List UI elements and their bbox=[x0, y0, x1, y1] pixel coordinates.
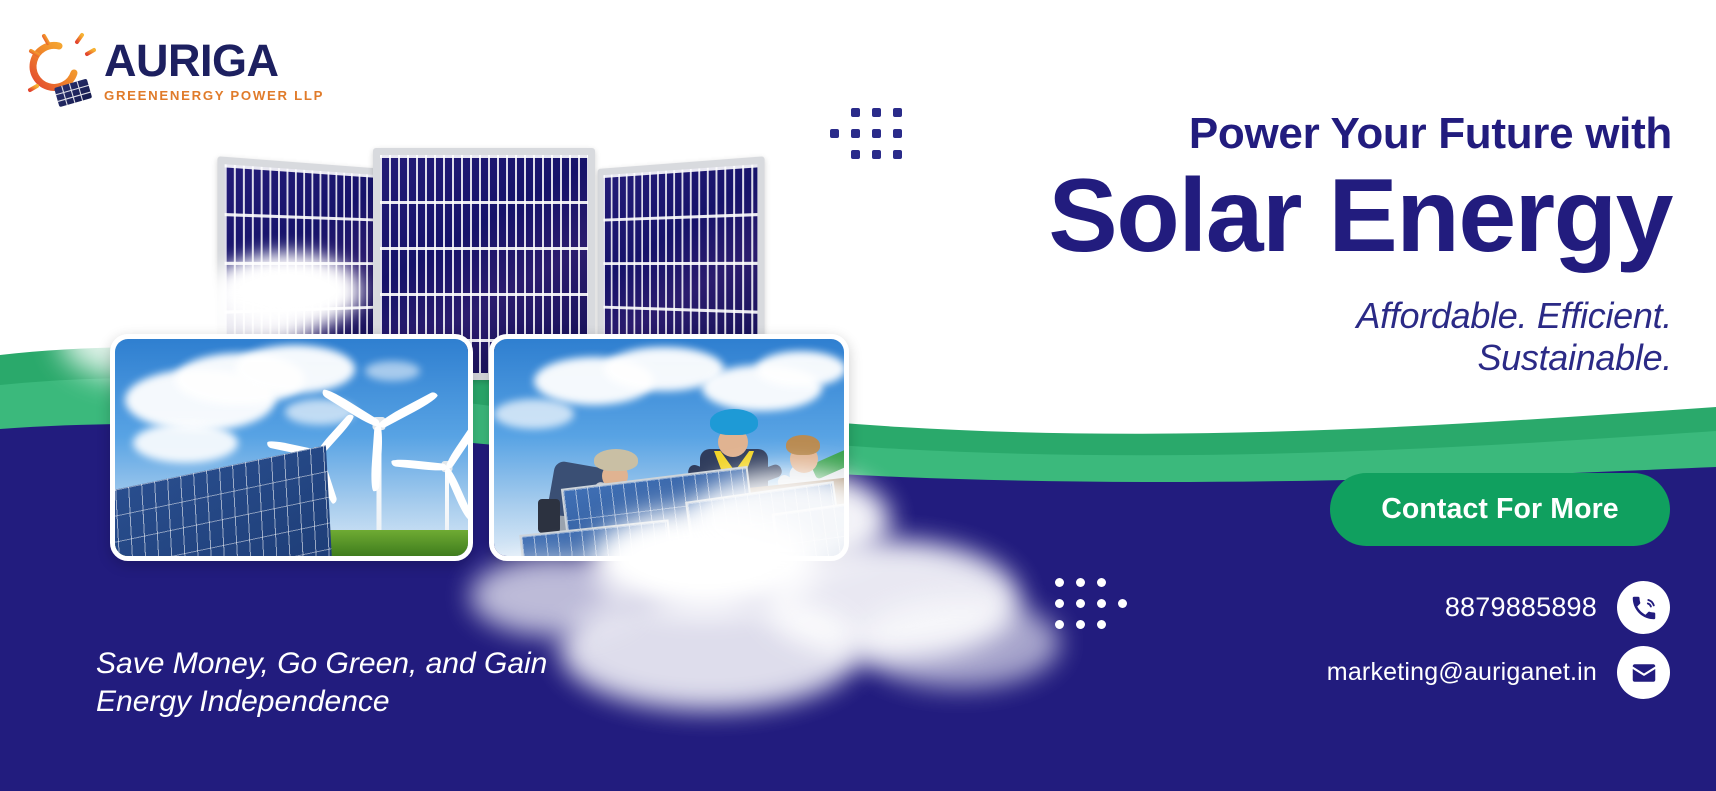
hero-headline-group: Power Your Future with Solar Energy Affo… bbox=[952, 110, 1672, 380]
contact-for-more-button[interactable]: Contact For More bbox=[1330, 473, 1670, 546]
hero-slogan: Save Money, Go Green, and Gain Energy In… bbox=[96, 645, 616, 722]
contact-phone-row[interactable]: 8879885898 bbox=[1445, 581, 1670, 634]
envelope-icon[interactable] bbox=[1617, 646, 1670, 699]
brand-logo[interactable]: AURIGA GREENENERGY POWER LLP bbox=[26, 32, 326, 116]
cloud-decor bbox=[860, 598, 1060, 688]
headline-line-2: Solar Energy bbox=[952, 160, 1672, 272]
phone-number[interactable]: 8879885898 bbox=[1445, 592, 1597, 623]
cloud-decor bbox=[470, 556, 640, 636]
phone-call-icon[interactable] bbox=[1617, 581, 1670, 634]
wind-turbines-and-solar-panel-photo[interactable] bbox=[110, 334, 473, 561]
tagline-line-2: Sustainable. bbox=[952, 337, 1672, 379]
hero-banner: AURIGA GREENENERGY POWER LLP bbox=[0, 0, 1716, 791]
email-address[interactable]: marketing@auriganet.in bbox=[1327, 658, 1597, 687]
tagline-line-1: Affordable. Efficient. bbox=[952, 295, 1672, 337]
contact-email-row[interactable]: marketing@auriganet.in bbox=[1327, 646, 1670, 699]
headline-line-1: Power Your Future with bbox=[952, 110, 1672, 158]
slogan-line-1: Save Money, Go Green, and Gain bbox=[96, 645, 616, 683]
dot-grid-white bbox=[1055, 578, 1127, 629]
logo-subtitle: GREENENERGY POWER LLP bbox=[104, 88, 324, 103]
slogan-line-2: Energy Independence bbox=[96, 683, 616, 721]
sun-with-solar-panel-icon bbox=[26, 32, 100, 112]
dot-grid-navy bbox=[830, 108, 902, 159]
logo-title: AURIGA bbox=[104, 38, 324, 83]
